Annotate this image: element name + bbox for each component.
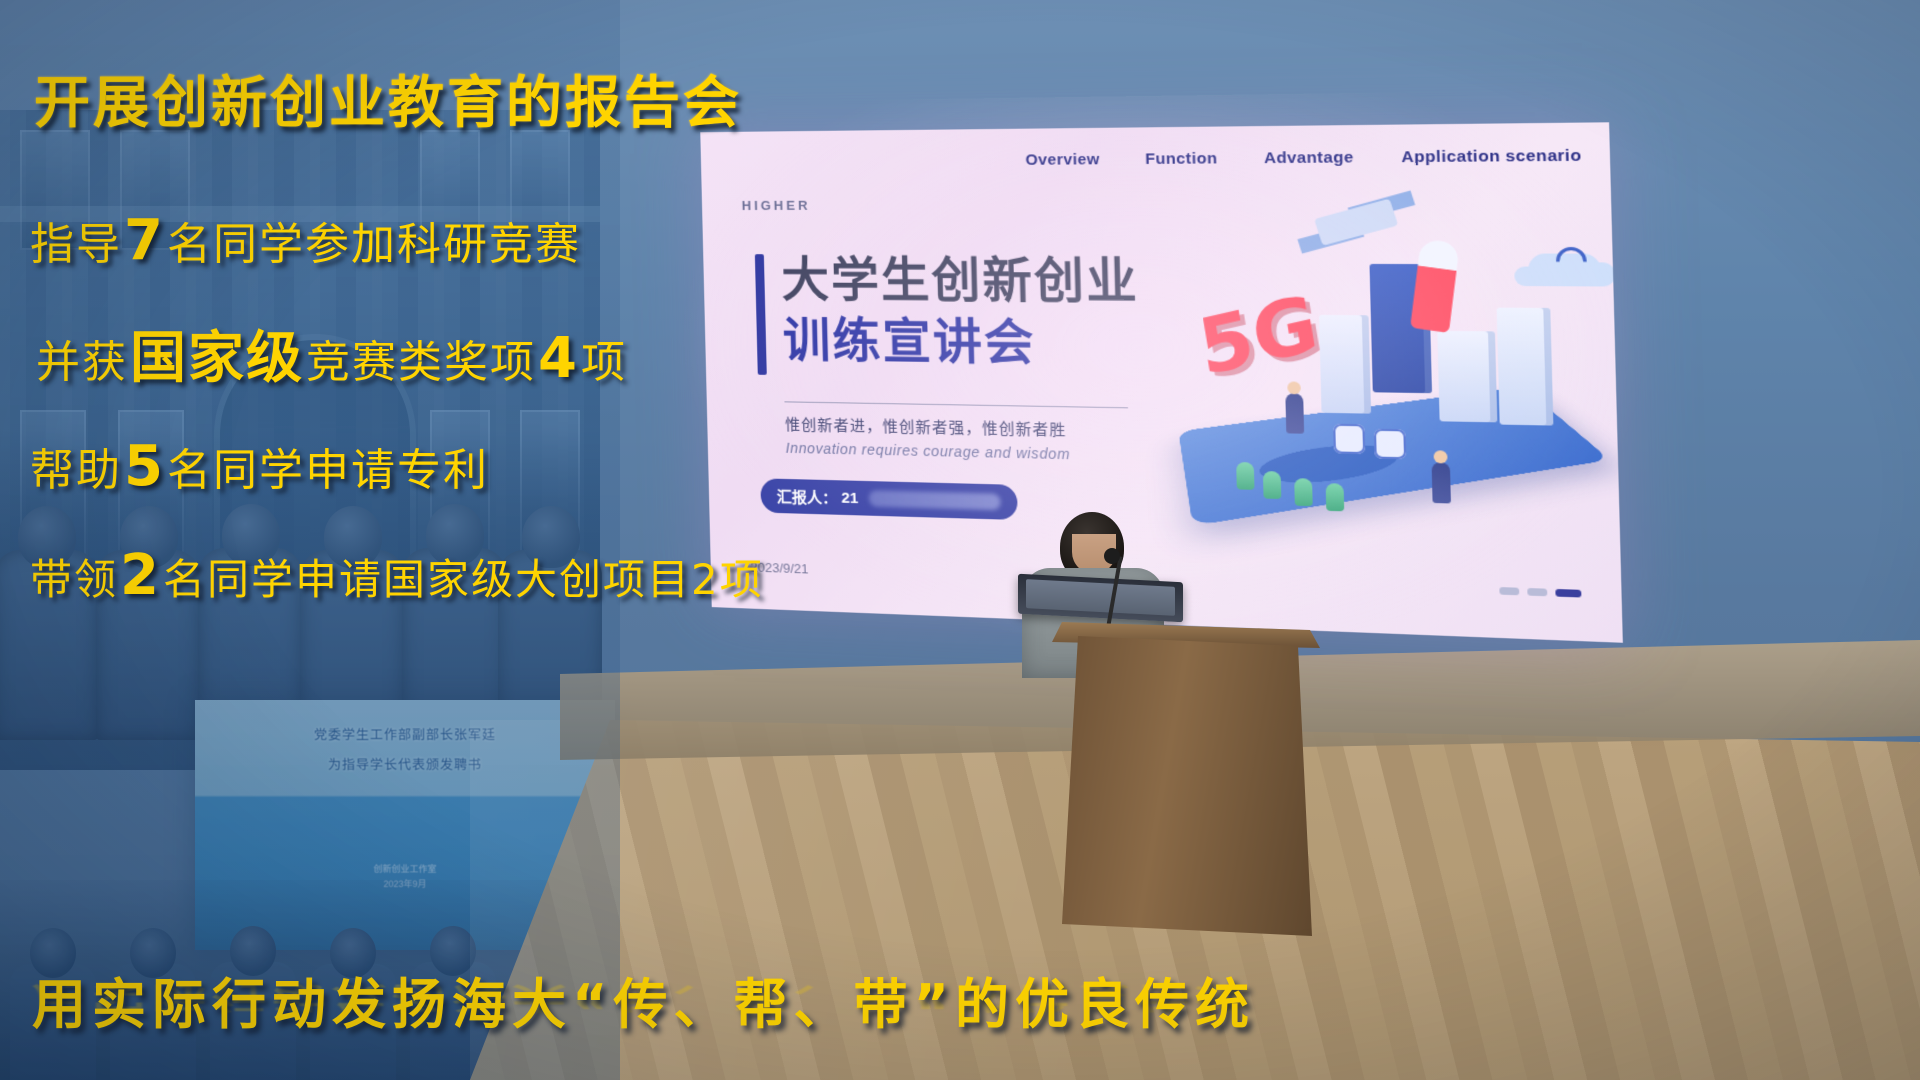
building-tower-3	[1437, 331, 1497, 423]
slide-illustration: 5G	[1151, 203, 1613, 553]
ceremony-slide-title: 党委学生工作部副部长张军廷 为指导学长代表颁发聘书	[195, 720, 615, 780]
slide-navigation: Overview Function Advantage Application …	[1025, 147, 1582, 169]
bullet-item-2: 并获国家级竞赛类奖项4项	[36, 313, 790, 394]
bullet-4-post: 名同学申请国家级大创项目2项	[163, 555, 764, 604]
bullet-1-number: 7	[122, 208, 167, 273]
slide-surface: Overview Function Advantage Application …	[700, 122, 1623, 643]
reporter-badge: 汇报人： 21	[760, 478, 1018, 520]
nav-item-application-scenario: Application scenario	[1401, 147, 1582, 167]
dot-3-active	[1555, 589, 1581, 598]
bullet-4-pre: 带领	[30, 555, 118, 604]
dot-1	[1499, 587, 1519, 595]
bullet-1-post: 名同学参加科研竞赛	[167, 219, 581, 270]
bullet-2-emphasis: 国家级	[128, 326, 306, 391]
projection-screen: Overview Function Advantage Application …	[700, 122, 1623, 643]
rocket-icon	[1410, 238, 1460, 333]
bullet-item-4: 带领2名同学申请国家级大创项目2项	[30, 543, 790, 608]
slide-pagination-dots	[1499, 587, 1581, 597]
slide-title-line2: 训练宣讲会	[782, 311, 1141, 377]
bullet-2-number: 4	[536, 326, 581, 391]
podium	[1062, 636, 1312, 936]
five-g-text: 5G	[1192, 278, 1324, 393]
grid-icon	[1374, 429, 1407, 460]
laptop	[1018, 574, 1183, 623]
building-tower-4	[1497, 308, 1554, 426]
slide-subtitle-en: Innovation requires courage and wisdom	[785, 440, 1070, 463]
person-figure-1	[1285, 393, 1304, 434]
bullet-3-post: 名同学申请专利	[167, 445, 489, 496]
bottom-banner: 用实际行动发扬海大“传、帮、带”的优良传统	[32, 960, 1592, 1039]
tree-1	[1236, 462, 1254, 490]
satellite-icon	[1314, 198, 1398, 245]
power-icon	[1333, 424, 1365, 455]
reporter-value: 21	[841, 489, 858, 507]
microphone-head	[1104, 548, 1120, 564]
bullet-2-post: 竞赛类奖项	[306, 337, 536, 388]
tree-2	[1263, 471, 1281, 499]
bullet-2-pre: 并获	[36, 337, 128, 388]
tree-3	[1294, 478, 1313, 506]
bullet-4-number: 2	[118, 543, 163, 608]
nav-item-function: Function	[1145, 150, 1218, 168]
person-figure-2	[1432, 462, 1451, 503]
slide-title-line1: 大学生创新创业	[781, 250, 1140, 313]
bullet-1-pre: 指导	[30, 219, 122, 270]
reporter-name-redacted	[868, 490, 1000, 510]
bullet-list: 指导7名同学参加科研竞赛 并获国家级竞赛类奖项4项 帮助5名同学申请专利 带领2…	[30, 208, 790, 644]
bullet-3-number: 5	[122, 434, 167, 499]
building-tower-2	[1319, 315, 1371, 414]
slide-divider	[784, 401, 1128, 408]
bullet-2-tail: 项	[581, 337, 627, 388]
slide-subtitle-cn: 惟创新者进，惟创新者强，惟创新者胜	[785, 413, 1067, 440]
bullet-item-3: 帮助5名同学申请专利	[30, 434, 790, 499]
tree-4	[1326, 483, 1345, 511]
nav-item-overview: Overview	[1025, 151, 1100, 169]
nav-item-advantage: Advantage	[1264, 149, 1354, 168]
page-title: 开展创新创业教育的报告会	[34, 58, 742, 139]
dot-2	[1527, 588, 1547, 596]
bullet-item-1: 指导7名同学参加科研竞赛	[30, 208, 790, 273]
screenshot-root: 党委学生工作部副部长张军廷 为指导学长代表颁发聘书 创新创业工作室 2023年9…	[0, 0, 1920, 1080]
bullet-3-pre: 帮助	[30, 445, 122, 496]
slide-title-block: 大学生创新创业 训练宣讲会 惟创新者进，惟创新者强，惟创新者胜 Innovati…	[755, 250, 1141, 376]
